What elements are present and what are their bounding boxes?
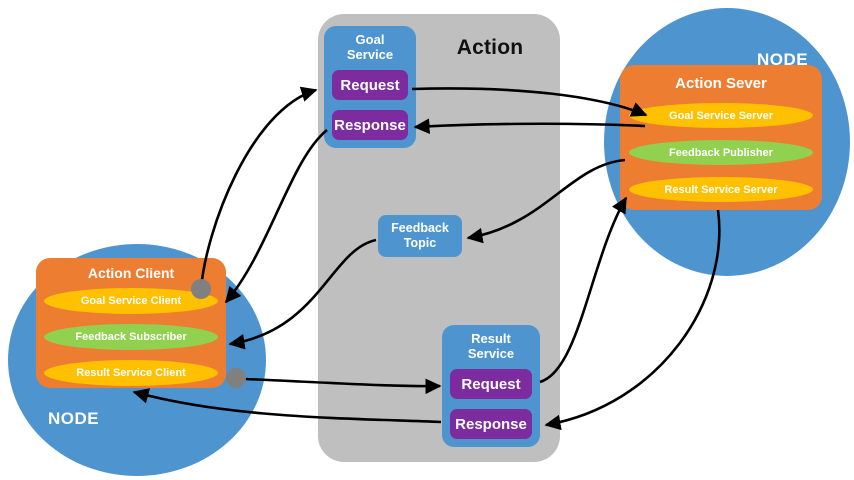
pill-result-service-server[interactable]: Result Service Server (629, 177, 813, 202)
action-client-title: Action Client (36, 265, 226, 281)
goal-service-title-line1: Goal (356, 32, 385, 47)
action-server-title: Action Sever (620, 75, 822, 92)
action-server-box: Action Sever Goal Service Server Feedbac… (620, 65, 822, 210)
goal-service-response[interactable]: Response (332, 110, 408, 140)
feedback-topic-line2: Topic (404, 236, 436, 251)
pill-result-service-client[interactable]: Result Service Client (44, 360, 218, 386)
goal-service-box: Goal Service Request Response (324, 26, 416, 148)
goal-service-request[interactable]: Request (332, 70, 408, 100)
result-service-title: Result Service (442, 331, 540, 361)
action-client-box: Action Client Goal Service Client Feedba… (36, 258, 226, 388)
result-service-request[interactable]: Request (450, 369, 532, 399)
diagram-canvas: Action Action Client Goal Service Client… (0, 0, 854, 480)
goal-service-title: Goal Service (324, 32, 416, 62)
goal-service-title-line2: Service (347, 47, 393, 62)
edge-response-to-goal-client (226, 130, 327, 302)
pill-goal-service-client[interactable]: Goal Service Client (44, 288, 218, 314)
node-label-client: NODE (48, 409, 99, 429)
result-service-title-line1: Result (471, 331, 511, 346)
result-service-response[interactable]: Response (450, 409, 532, 439)
node-label-server: NODE (757, 50, 808, 70)
pill-feedback-publisher[interactable]: Feedback Publisher (629, 140, 813, 165)
action-title: Action (430, 36, 550, 60)
pill-feedback-subscriber[interactable]: Feedback Subscriber (44, 324, 218, 350)
feedback-topic-box[interactable]: Feedback Topic (378, 215, 462, 257)
feedback-topic-line1: Feedback (391, 221, 449, 236)
result-service-title-line2: Service (468, 346, 514, 361)
pill-goal-service-server[interactable]: Goal Service Server (629, 103, 813, 128)
result-service-box: Result Service Request Response (442, 325, 540, 447)
